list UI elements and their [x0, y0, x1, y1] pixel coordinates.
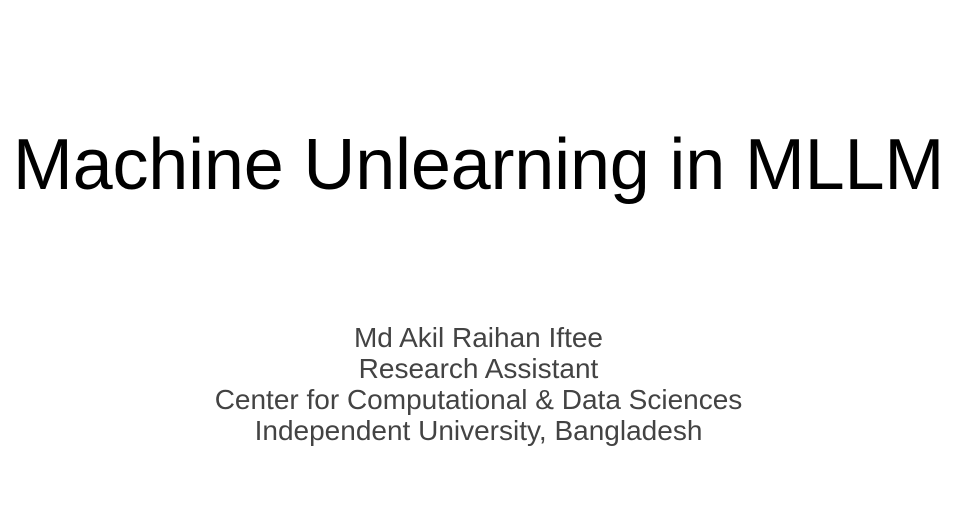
affiliation-institution: Independent University, Bangladesh [0, 415, 957, 446]
title-slide: Machine Unlearning in MLLM Md Akil Raiha… [0, 0, 957, 518]
author-name: Md Akil Raihan Iftee [0, 322, 957, 353]
page-title: Machine Unlearning in MLLM [0, 122, 957, 208]
author-role: Research Assistant [0, 353, 957, 384]
author-affiliation-block: Md Akil Raihan Iftee Research Assistant … [0, 322, 957, 446]
affiliation-department: Center for Computational & Data Sciences [0, 384, 957, 415]
